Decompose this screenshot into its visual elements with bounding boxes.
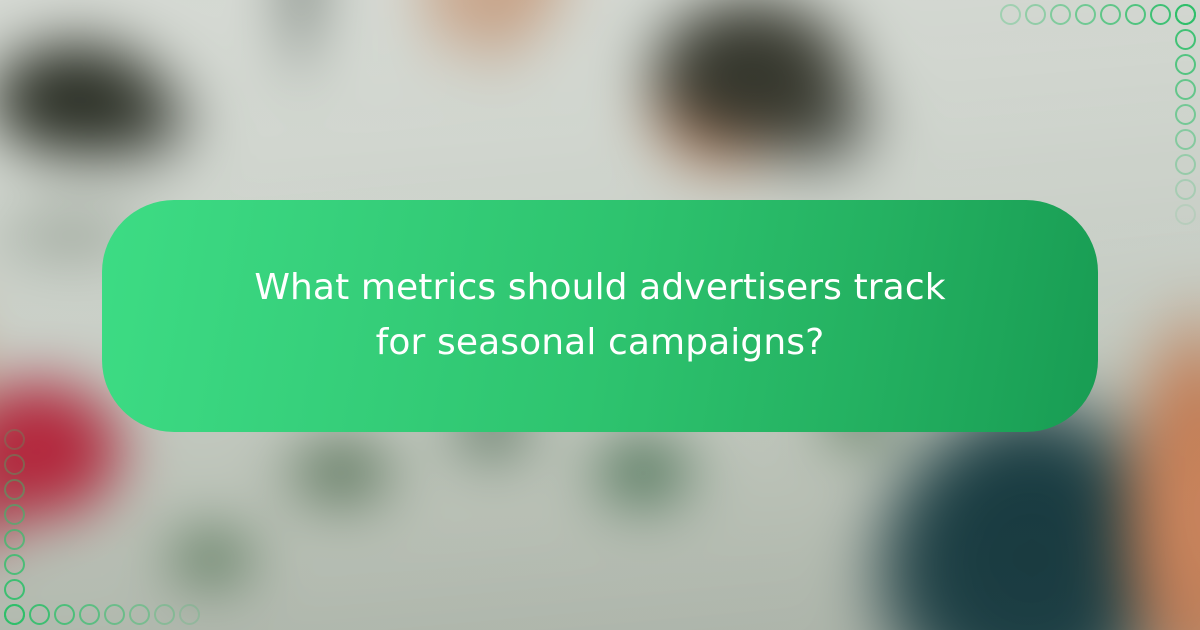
decorative-circle (4, 579, 25, 600)
decorative-circle (4, 479, 25, 500)
decorative-circle (1175, 104, 1196, 125)
decorative-circle (54, 604, 75, 625)
decorative-circle (154, 604, 175, 625)
decorative-circle (1175, 29, 1196, 50)
decorative-circle (4, 554, 25, 575)
decorative-circle (1175, 54, 1196, 75)
decorative-circle (1075, 4, 1096, 25)
decorative-circle (79, 604, 100, 625)
decorative-circle (1175, 129, 1196, 150)
decorative-circle (4, 604, 25, 625)
decorative-circle (1175, 179, 1196, 200)
decorative-circle (1125, 4, 1146, 25)
decorative-circle (4, 429, 25, 450)
decorative-circle (1000, 4, 1021, 25)
decorative-circle (4, 504, 25, 525)
decorative-circle (1150, 4, 1171, 25)
question-card[interactable]: What metrics should advertisers track fo… (102, 200, 1098, 432)
decorative-circle (1100, 4, 1121, 25)
decorative-circle (129, 604, 150, 625)
screenshot-stage: What metrics should advertisers track fo… (0, 0, 1200, 630)
decorative-circle (1175, 79, 1196, 100)
decorative-circle (1175, 4, 1196, 25)
decorative-circle (1050, 4, 1071, 25)
decorative-circle (179, 604, 200, 625)
decorative-circle (4, 454, 25, 475)
decorative-circle (4, 529, 25, 550)
decorative-circle (1175, 204, 1196, 225)
decorative-circle (104, 604, 125, 625)
decorative-circle (29, 604, 50, 625)
decorative-circle (1025, 4, 1046, 25)
decorative-circle (1175, 154, 1196, 175)
question-text: What metrics should advertisers track fo… (240, 261, 960, 370)
